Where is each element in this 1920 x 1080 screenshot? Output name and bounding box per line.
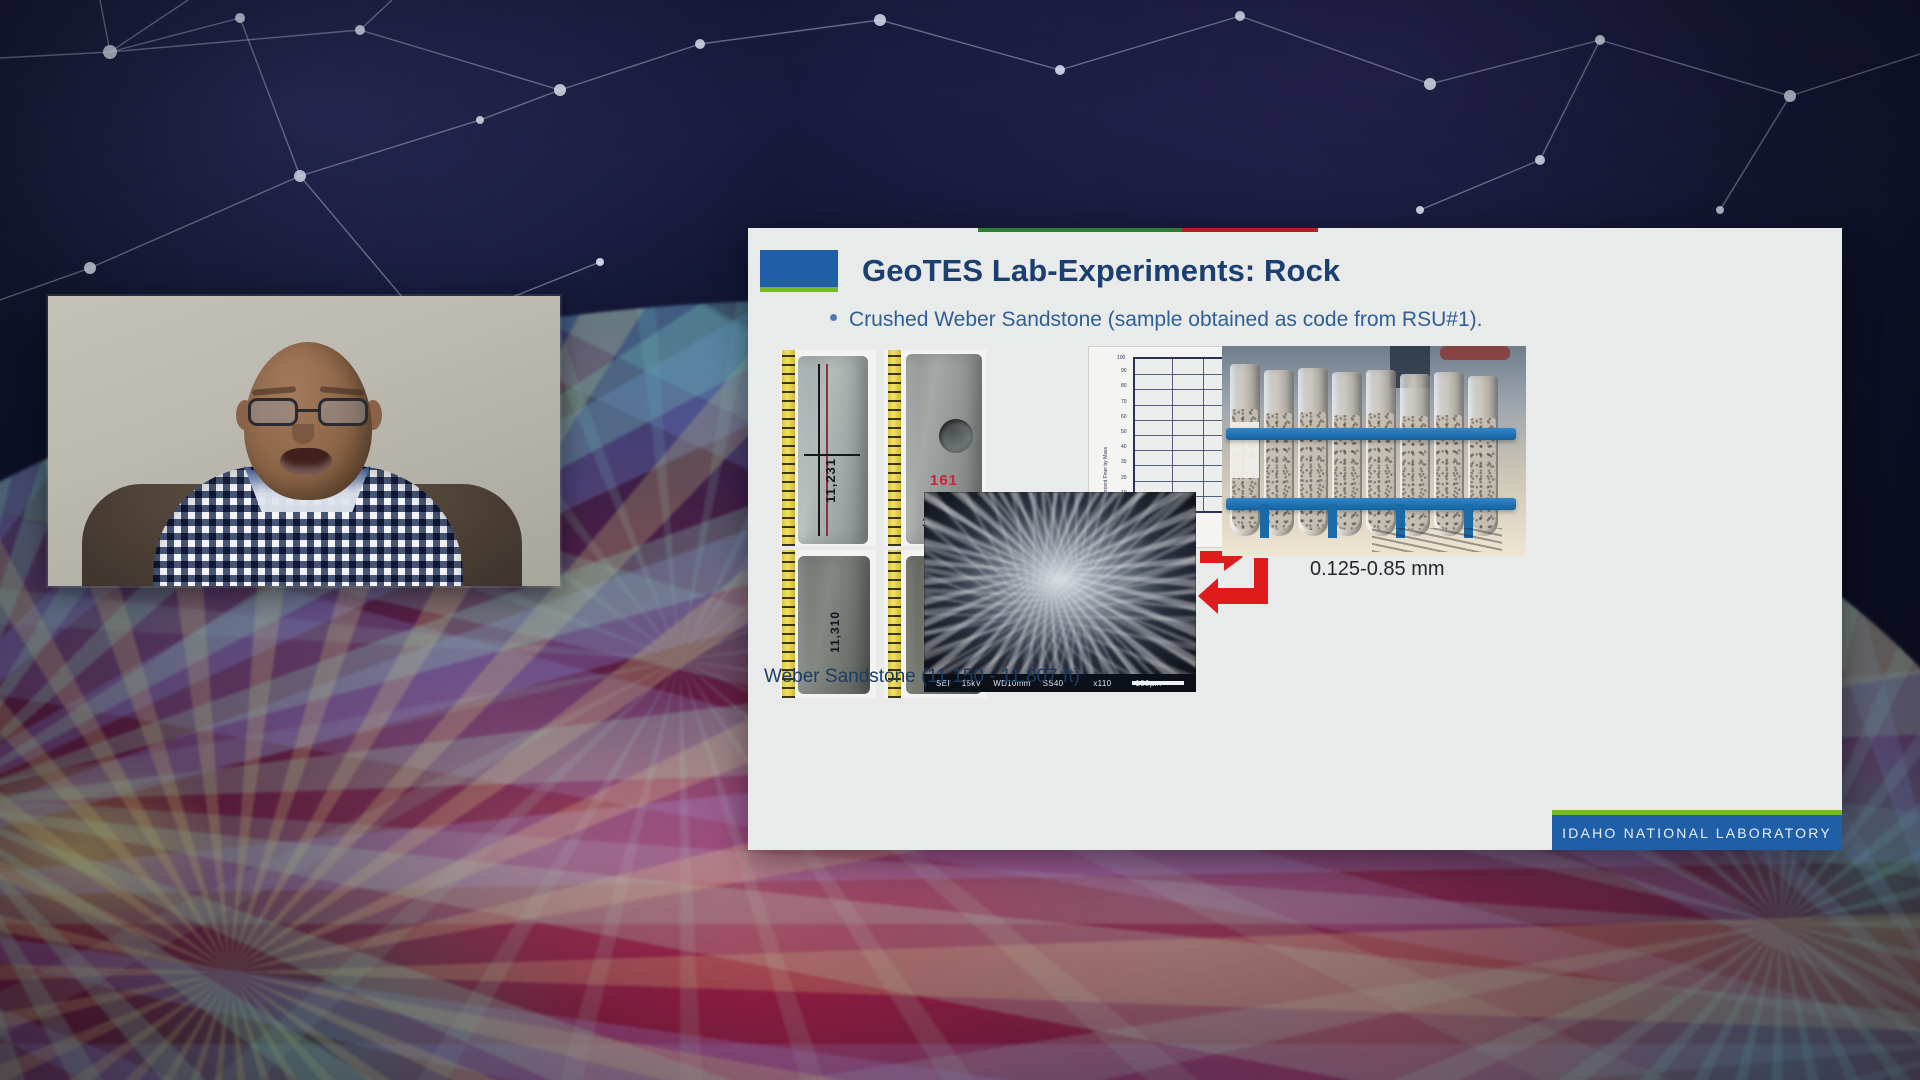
sample-tube [1434, 372, 1464, 536]
inl-logo-text: IDAHO NATIONAL LABORATORY [1562, 825, 1832, 841]
webcam-nose [292, 424, 314, 444]
core-depth-label: 11,310 [828, 611, 842, 653]
slide-title-badge [760, 250, 838, 292]
slide-bullet-row: Crushed Weber Sandstone (sample obtained… [830, 308, 1482, 332]
chart-ytick: 100 [1117, 355, 1125, 361]
chart-ytick: 70 [1121, 399, 1127, 405]
core-photos-caption: Weber Sandstone (11,150 - 11,807 ft) [764, 666, 1080, 688]
inl-logo-bar: IDAHO NATIONAL LABORATORY [1552, 810, 1842, 850]
sem-scale-bar [1132, 681, 1184, 685]
chart-ytick: 60 [1121, 414, 1127, 420]
chart-ytick: 40 [1121, 444, 1127, 450]
sem-magnification: x110 [1093, 679, 1111, 688]
chart-ytick: 90 [1121, 368, 1127, 374]
core-depth-label: 11,231 [823, 458, 838, 503]
chart-ytick: 50 [1121, 429, 1127, 435]
chart-ytick: 30 [1121, 459, 1127, 465]
glasses-bridge [298, 409, 318, 412]
slide-top-stripe [978, 228, 1318, 232]
core-red-label: 161 [930, 472, 958, 489]
tube-rack-upper-bar [1226, 428, 1516, 440]
slide-title: GeoTES Lab-Experiments: Rock [862, 253, 1340, 289]
sample-tube [1298, 368, 1328, 536]
participant-video-tile[interactable] [48, 296, 560, 586]
sample-tube [1366, 370, 1396, 536]
sample-tube [1230, 364, 1260, 536]
lab-background-hose [1440, 346, 1510, 360]
tube-rack-leg [1260, 504, 1269, 538]
chart-ytick: 80 [1121, 383, 1127, 389]
glasses-lens-right [318, 398, 368, 426]
tube-rack-leg [1328, 504, 1337, 538]
handwritten-note [1372, 528, 1502, 552]
core-marker-line-black [818, 364, 820, 537]
core-marker-line-red [826, 364, 828, 537]
presentation-slide[interactable]: GeoTES Lab-Experiments: Rock Crushed Web… [748, 228, 1842, 850]
sem-texture [924, 492, 1196, 692]
chart-ylabel: Percent Finer by Mass [1103, 447, 1109, 497]
sample-tubes-photo [1222, 346, 1526, 556]
webcam-mouth [280, 448, 332, 474]
arrow-tubes-to-sem-icon [1196, 556, 1274, 620]
measuring-tape [888, 350, 901, 546]
slide-title-row: GeoTES Lab-Experiments: Rock [760, 250, 1340, 292]
core-depth-tick [804, 454, 860, 456]
chart-ytick: 20 [1121, 475, 1127, 481]
slide-bullet-text: Crushed Weber Sandstone (sample obtained… [849, 308, 1482, 332]
core-photo-1: 11,231 [780, 350, 876, 546]
rock-core-sample: 11,231 [798, 356, 868, 544]
glasses-lens-left [248, 398, 298, 426]
sem-micrograph: SEI 15kV WD10mm SS40 x110 100µm [924, 492, 1196, 692]
core-drilled-hole [939, 419, 973, 453]
particle-size-label: 0.125-0.85 mm [1310, 558, 1445, 581]
measuring-tape [782, 350, 795, 546]
bullet-point-icon [830, 314, 837, 321]
